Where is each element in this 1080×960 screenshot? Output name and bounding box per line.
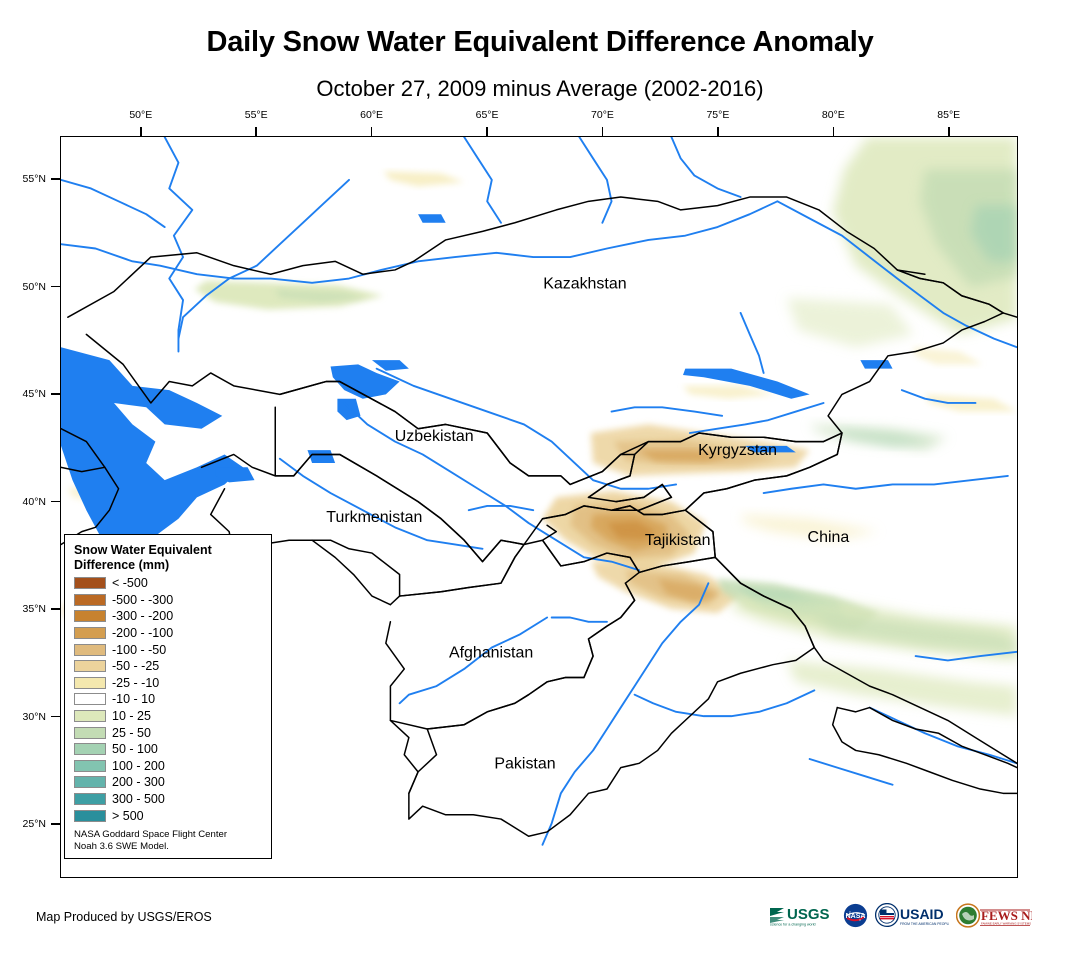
longitude-tick [602, 127, 604, 136]
legend-row: > 500 [74, 807, 263, 824]
legend-label: 300 - 500 [112, 793, 165, 805]
river [612, 407, 723, 416]
river [810, 759, 893, 785]
legend-source-line1: NASA Goddard Space Flight Center [74, 829, 263, 841]
river [690, 403, 824, 433]
legend-label: -100 - -50 [112, 644, 166, 656]
longitude-tick-label: 80°E [822, 109, 845, 121]
svg-text:NASA: NASA [846, 913, 866, 920]
river [178, 180, 349, 339]
legend-row: -50 - -25 [74, 658, 263, 675]
country-label: Pakistan [494, 755, 555, 772]
legend-title: Snow Water Equivalent Difference (mm) [74, 543, 263, 572]
latitude-tick [51, 608, 60, 610]
legend-label: 200 - 300 [112, 776, 165, 788]
legend-title-line1: Snow Water Equivalent [74, 543, 263, 558]
latitude-tick [51, 823, 60, 825]
water-body [61, 347, 243, 544]
legend-label: -50 - -25 [112, 660, 159, 672]
legend-swatch [74, 776, 106, 788]
river [635, 690, 815, 716]
anomaly-region [384, 171, 465, 186]
latitude-tick [51, 716, 60, 718]
svg-text:USAID: USAID [900, 906, 944, 922]
country-label: Kazakhstan [543, 276, 626, 293]
legend-label: -500 - -300 [112, 594, 173, 606]
legend-swatch [74, 743, 106, 755]
legend-label: > 500 [112, 810, 144, 822]
country-label: Afghanistan [449, 645, 533, 662]
latitude-tick-label: 25°N [23, 818, 46, 830]
legend-swatch [74, 727, 106, 739]
legend-label: 25 - 50 [112, 727, 151, 739]
logo-bar: USGS science for a changing world NASA [768, 902, 1032, 928]
map-page: Daily Snow Water Equivalent Difference A… [0, 0, 1080, 960]
longitude-tick-label: 85°E [937, 109, 960, 121]
latitude-tick-label: 35°N [23, 603, 46, 615]
country-label: Tajikistan [645, 532, 711, 549]
river [165, 137, 193, 352]
longitude-tick-label: 55°E [245, 109, 268, 121]
legend-row: -100 - -50 [74, 641, 263, 658]
longitude-tick [486, 127, 488, 136]
svg-text:USGS: USGS [787, 906, 830, 923]
legend-label: -200 - -100 [112, 627, 173, 639]
usgs-logo[interactable]: USGS science for a changing world [768, 902, 836, 928]
country-label: Uzbekistan [395, 428, 474, 445]
legend-row: 100 - 200 [74, 758, 263, 775]
longitude-tick-label: 75°E [706, 109, 729, 121]
legend-swatch [74, 660, 106, 672]
latitude-tick [51, 178, 60, 180]
latitude-tick-label: 50°N [23, 281, 46, 293]
legend-label: 10 - 25 [112, 710, 151, 722]
svg-text:science for a changing world: science for a changing world [770, 923, 816, 927]
legend-row: 25 - 50 [74, 724, 263, 741]
page-subtitle: October 27, 2009 minus Average (2002-201… [0, 76, 1080, 102]
legend-label: < -500 [112, 577, 148, 589]
legend-swatch [74, 810, 106, 822]
legend-label: 50 - 100 [112, 743, 158, 755]
longitude-tick [140, 127, 142, 136]
anomaly-region [787, 660, 1017, 716]
water-body [337, 399, 360, 420]
river [469, 506, 533, 510]
water-body [860, 360, 892, 369]
country-border [390, 720, 418, 793]
legend-swatch [74, 644, 106, 656]
longitude-tick-label: 50°E [129, 109, 152, 121]
latitude-tick [51, 286, 60, 288]
legend-row: -25 - -10 [74, 675, 263, 692]
legend-swatch [74, 627, 106, 639]
legend-row: 50 - 100 [74, 741, 263, 758]
country-label: Turkmenistan [326, 509, 422, 526]
country-border [833, 708, 1017, 794]
legend-row: -300 - -200 [74, 608, 263, 625]
legend-swatch [74, 677, 106, 689]
legend-label: 100 - 200 [112, 760, 165, 772]
legend-row: -10 - 10 [74, 691, 263, 708]
latitude-tick-label: 45°N [23, 388, 46, 400]
country-label: China [808, 529, 850, 546]
map-credit: Map Produced by USGS/EROS [36, 910, 212, 924]
river [464, 137, 501, 223]
river [61, 201, 777, 282]
legend-label: -10 - 10 [112, 693, 155, 705]
water-body [307, 450, 335, 463]
legend-row: 10 - 25 [74, 708, 263, 725]
river [741, 313, 764, 373]
river [671, 137, 740, 197]
longitude-tick [371, 127, 373, 136]
latitude-tick-label: 40°N [23, 496, 46, 508]
river [552, 618, 607, 622]
longitude-tick-label: 65°E [476, 109, 499, 121]
nasa-logo[interactable]: NASA [843, 902, 868, 928]
legend-row: -200 - -100 [74, 625, 263, 642]
longitude-tick-label: 70°E [591, 109, 614, 121]
latitude-tick [51, 393, 60, 395]
legend-swatch [74, 710, 106, 722]
legend-row: 200 - 300 [74, 774, 263, 791]
legend-source: NASA Goddard Space Flight Center Noah 3.… [74, 829, 263, 852]
river [61, 180, 165, 227]
water-body [418, 214, 446, 223]
legend-swatch [74, 760, 106, 772]
legend-swatch [74, 594, 106, 606]
longitude-tick [717, 127, 719, 136]
anomaly-region [787, 298, 914, 347]
legend-swatch [74, 793, 106, 805]
fewsnet-logo[interactable]: FEWS NET FAMINE EARLY WARNING SYSTEMS NE… [956, 902, 1032, 928]
legend-label: -300 - -200 [112, 610, 173, 622]
river [579, 137, 611, 223]
latitude-tick [51, 501, 60, 503]
river [764, 476, 1008, 493]
legend-class-list: < -500-500 - -300-300 - -200-200 - -100-… [74, 575, 263, 824]
country-label: Kyrgyzstan [698, 442, 777, 459]
country-border [837, 708, 1017, 768]
svg-text:FAMINE EARLY WARNING SYSTEMS N: FAMINE EARLY WARNING SYSTEMS NETWORK [981, 921, 1032, 925]
longitude-tick-label: 60°E [360, 109, 383, 121]
river [542, 583, 708, 845]
anomaly-region [913, 347, 982, 364]
longitude-tick [833, 127, 835, 136]
legend-label: -25 - -10 [112, 677, 159, 689]
legend-source-line2: Noah 3.6 SWE Model. [74, 841, 263, 853]
legend-title-line2: Difference (mm) [74, 558, 263, 573]
svg-text:FROM THE AMERICAN PEOPLE: FROM THE AMERICAN PEOPLE [900, 922, 949, 926]
legend-row: 300 - 500 [74, 791, 263, 808]
legend-swatch [74, 693, 106, 705]
legend-row: < -500 [74, 575, 263, 592]
longitude-tick [948, 127, 950, 136]
legend-row: -500 - -300 [74, 592, 263, 609]
page-title: Daily Snow Water Equivalent Difference A… [0, 26, 1080, 59]
legend-panel: Snow Water Equivalent Difference (mm) < … [64, 534, 272, 859]
usaid-logo[interactable]: USAID FROM THE AMERICAN PEOPLE [875, 902, 949, 928]
latitude-tick-label: 55°N [23, 173, 46, 185]
longitude-tick [255, 127, 257, 136]
legend-swatch [74, 610, 106, 622]
latitude-tick-label: 30°N [23, 711, 46, 723]
legend-swatch [74, 577, 106, 589]
